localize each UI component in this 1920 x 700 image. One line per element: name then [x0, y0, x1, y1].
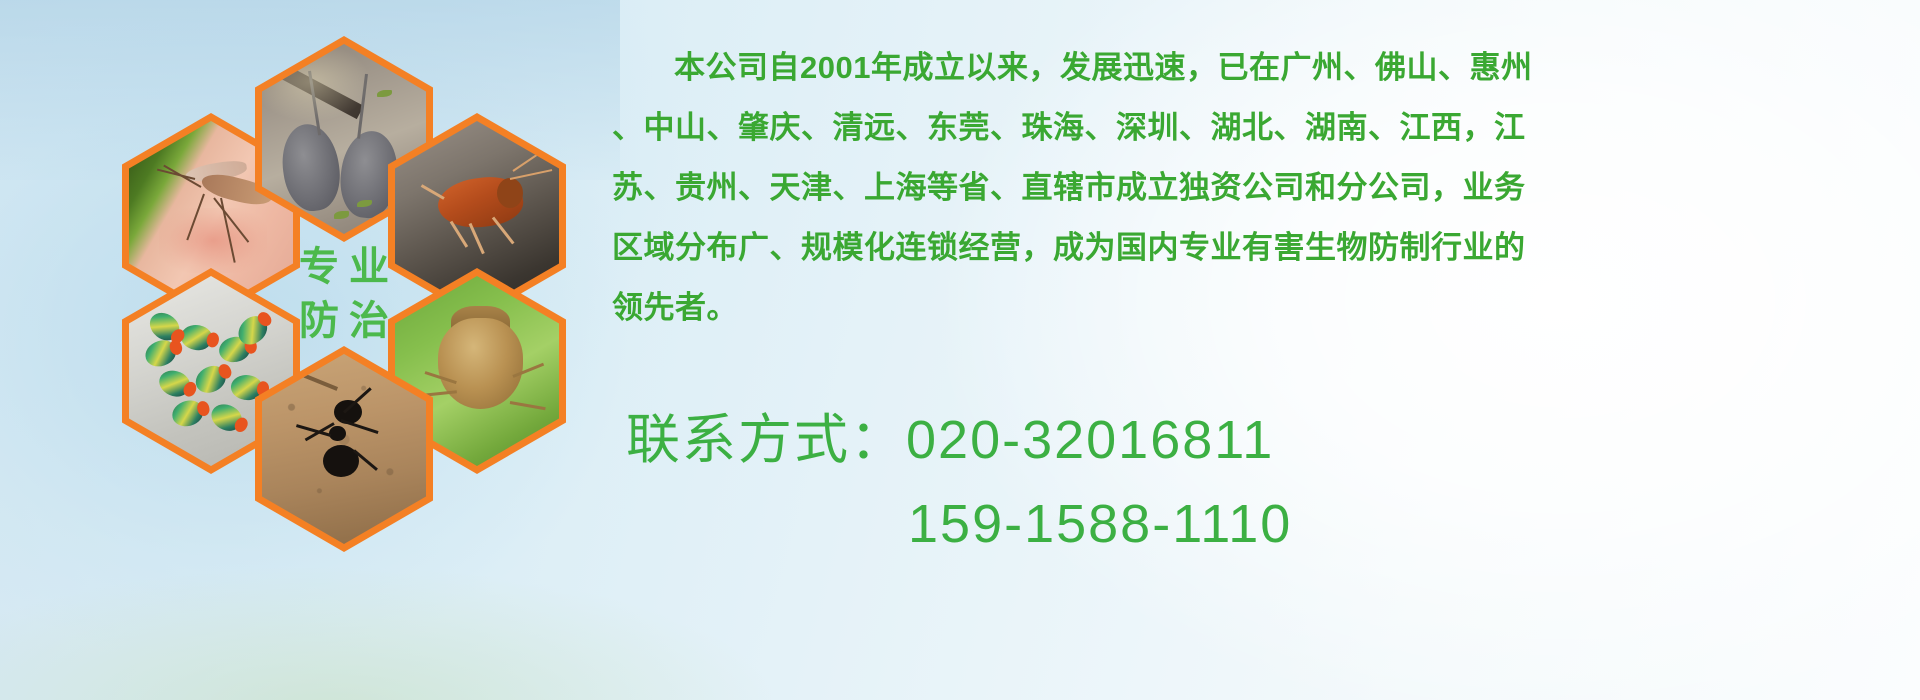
contact-label: 联系方式：: [626, 410, 906, 470]
paragraph-line: 区域分布广、规模化连锁经营，成为国内专业有害生物防制行业的: [612, 218, 1902, 278]
paragraph-line: 、中山、肇庆、清远、东莞、珠海、深圳、湖北、湖南、江西，江: [612, 98, 1902, 158]
paragraph-line: 苏、贵州、天津、上海等省、直辖市成立独资公司和分公司，业务: [612, 158, 1902, 218]
honeycomb-collage: 专业 防治: [88, 8, 588, 568]
paragraph-line: 本公司自2001年成立以来，发展迅速，已在广州、佛山、惠州: [612, 38, 1902, 98]
contact-secondary-line: 159-1588-1110: [612, 482, 1902, 566]
company-intro-paragraph: 本公司自2001年成立以来，发展迅速，已在广州、佛山、惠州 、中山、肇庆、清远、…: [612, 38, 1902, 338]
contact-primary-line: 联系方式：020-32016811: [612, 398, 1902, 482]
content-column: 本公司自2001年成立以来，发展迅速，已在广州、佛山、惠州 、中山、肇庆、清远、…: [612, 0, 1920, 700]
contact-phone-mobile[interactable]: 159-1588-1110: [908, 494, 1292, 554]
ant-photo: [262, 354, 426, 544]
paragraph-line: 领先者。: [612, 278, 1902, 338]
contact-phone-landline[interactable]: 020-32016811: [906, 410, 1274, 470]
brand-slogan-line-2: 防治: [289, 301, 399, 341]
contact-block: 联系方式：020-32016811 159-1588-1110: [612, 398, 1902, 566]
brand-slogan-line-1: 专业: [289, 247, 399, 287]
